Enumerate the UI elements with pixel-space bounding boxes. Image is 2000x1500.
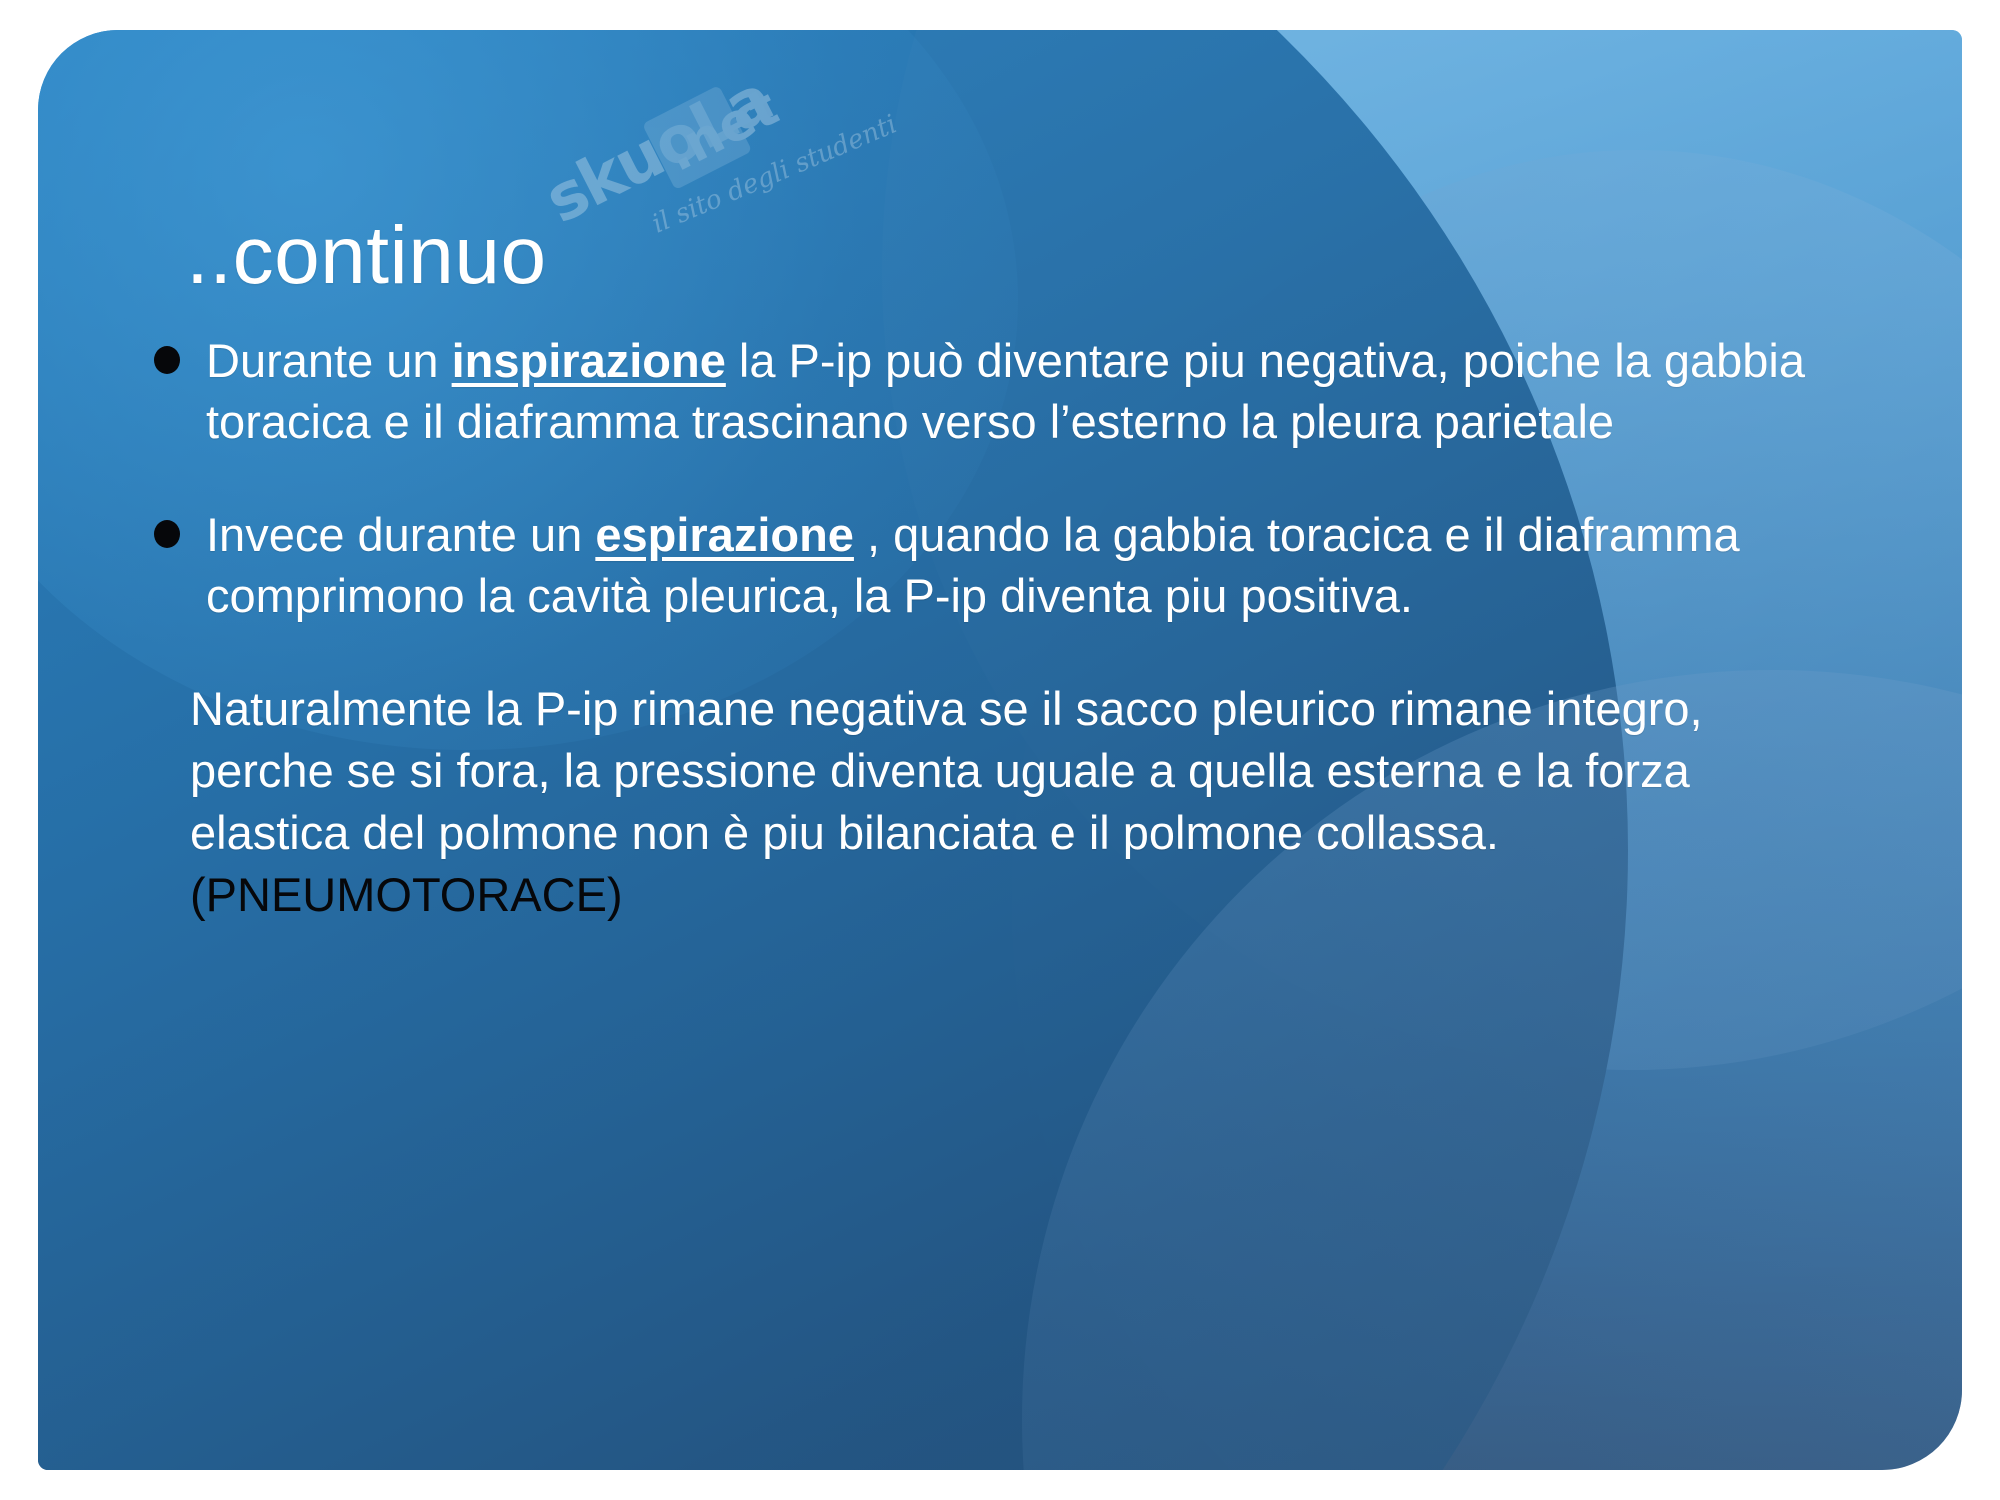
slide-body: Durante un inspirazione la P-ip può dive… xyxy=(154,330,1854,927)
bullet-text-emphasis: inspirazione xyxy=(452,334,726,387)
closing-paragraph-last-line: (PNEUMOTORACE) xyxy=(190,868,623,921)
closing-paragraph: Naturalmente la P-ip rimane negativa se … xyxy=(190,678,1830,926)
bullet-marker-icon xyxy=(154,504,206,553)
bullet-text-before: Durante un xyxy=(206,334,452,387)
slide: skuoLa .net il sito degli studenti ..con… xyxy=(0,0,2000,1500)
slide-background: skuoLa .net il sito degli studenti ..con… xyxy=(38,30,1962,1470)
filled-circle-icon xyxy=(154,520,180,548)
bullet-text: Durante un inspirazione la P-ip può dive… xyxy=(206,330,1854,452)
bullet-text-before: Invece durante un xyxy=(206,508,595,561)
slide-content: ..continuo Durante un inspirazione la P-… xyxy=(38,30,1962,1470)
closing-paragraph-text: Naturalmente la P-ip rimane negativa se … xyxy=(190,682,1703,859)
bullet-item: Durante un inspirazione la P-ip può dive… xyxy=(154,330,1854,452)
slide-title: ..continuo xyxy=(186,215,547,297)
bullet-text-emphasis: espirazione xyxy=(595,508,854,561)
bullet-marker-icon xyxy=(154,330,206,379)
bullet-text: Invece durante un espirazione , quando l… xyxy=(206,504,1854,626)
filled-circle-icon xyxy=(154,346,180,374)
bullet-item: Invece durante un espirazione , quando l… xyxy=(154,504,1854,626)
